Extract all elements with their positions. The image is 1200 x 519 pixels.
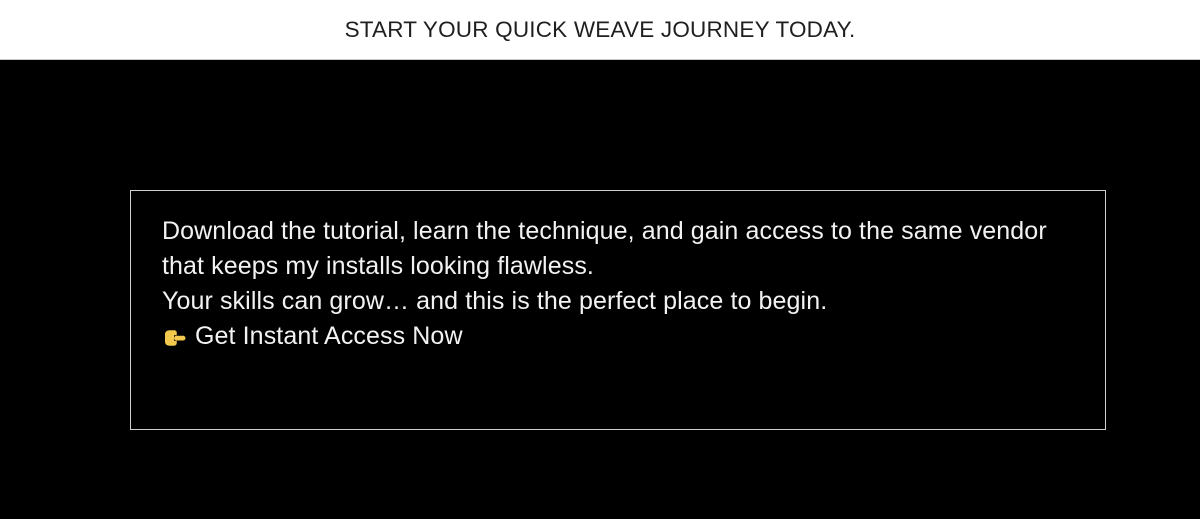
header-band: START YOUR QUICK WEAVE JOURNEY TODAY. bbox=[0, 0, 1200, 60]
pointing-right-hand-icon bbox=[162, 328, 187, 348]
page-title: START YOUR QUICK WEAVE JOURNEY TODAY. bbox=[345, 19, 856, 42]
cta-link-label[interactable]: Get Instant Access Now bbox=[195, 319, 463, 354]
cta-paragraph-2: Your skills can grow… and this is the pe… bbox=[162, 284, 1062, 319]
cta-paragraph-1: Download the tutorial, learn the techniq… bbox=[162, 214, 1062, 284]
page-root: START YOUR QUICK WEAVE JOURNEY TODAY. Do… bbox=[0, 0, 1200, 519]
body-area: Download the tutorial, learn the techniq… bbox=[0, 60, 1200, 519]
cta-link-row[interactable]: Get Instant Access Now bbox=[162, 319, 1062, 354]
cta-text-block: Download the tutorial, learn the techniq… bbox=[162, 214, 1062, 354]
cta-box: Download the tutorial, learn the techniq… bbox=[130, 190, 1106, 430]
